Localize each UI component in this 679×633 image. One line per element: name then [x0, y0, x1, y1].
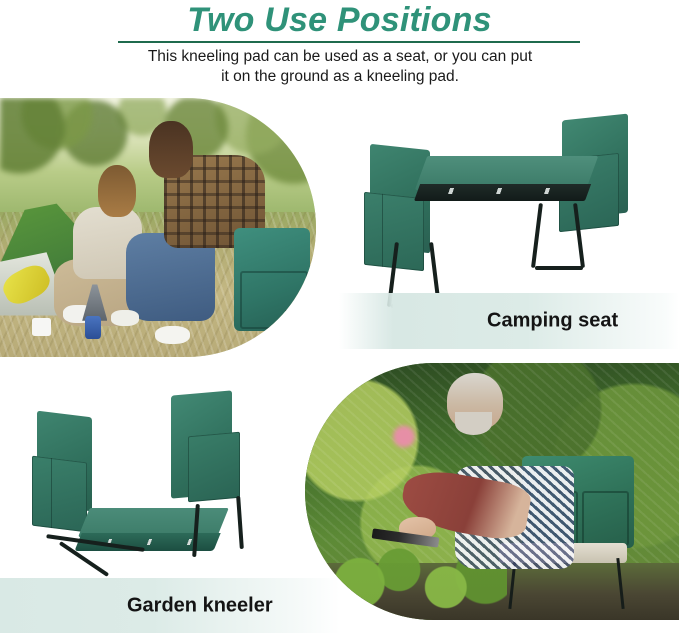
product-kneeler-position	[20, 385, 310, 590]
woman-head	[98, 165, 136, 217]
garden-lifestyle-photo	[305, 363, 679, 620]
pink-flower	[391, 425, 417, 448]
camping-seat-caption-band: Camping seat	[339, 293, 679, 349]
subtitle-line-2: it on the ground as a kneeling pad.	[90, 67, 590, 87]
shoe-man	[155, 326, 190, 344]
garden-kneeler-label: Garden kneeler	[127, 595, 273, 618]
seat-leg-right	[285, 310, 291, 333]
camping-seat-label: Camping seat	[487, 310, 618, 333]
green-folding-seat	[234, 228, 310, 332]
header: Two Use Positions This kneeling pad can …	[0, 0, 679, 98]
seat-product-illustration	[355, 100, 655, 315]
enamel-mug	[32, 318, 51, 336]
gardener-beard	[455, 412, 492, 435]
promo-graphic: Two Use Positions This kneeling pad can …	[0, 0, 679, 633]
man-head	[149, 121, 193, 178]
kneeler-frame-bar-4	[236, 496, 244, 549]
page-title: Two Use Positions	[0, 1, 679, 39]
gas-canister	[85, 316, 101, 339]
kneeler-product-illustration	[20, 385, 310, 590]
title-divider	[118, 41, 580, 43]
kneeler-right-tool-pouch	[188, 432, 240, 502]
shoe-right	[111, 310, 139, 326]
rear-foot-bar	[535, 266, 583, 270]
kneeler-left-tool-pouch	[32, 455, 87, 531]
seat-leg-left	[301, 310, 307, 333]
garden-kneeler-caption-band: Garden kneeler	[0, 578, 340, 633]
camping-scene	[0, 98, 316, 357]
cushion-rivets	[426, 188, 578, 194]
product-seat-position	[355, 100, 655, 315]
garden-scene	[305, 363, 679, 620]
subtitle-line-1: This kneeling pad can be used as a seat,…	[90, 47, 590, 67]
camping-lifestyle-photo	[0, 98, 316, 357]
rear-left-leg	[531, 203, 543, 268]
page-subtitle: This kneeling pad can be used as a seat,…	[90, 47, 590, 87]
